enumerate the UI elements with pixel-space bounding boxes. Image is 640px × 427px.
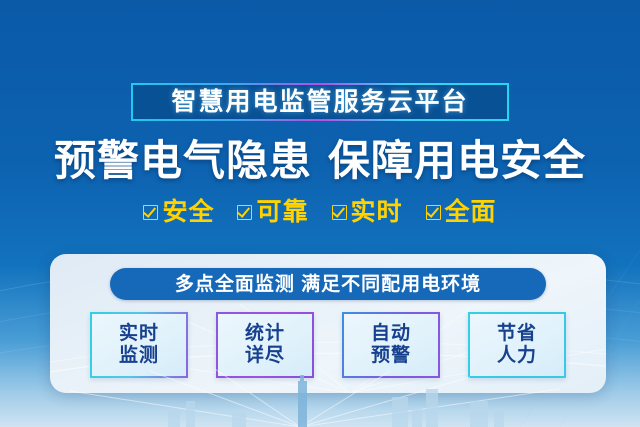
feature-card-line-2: 监测: [119, 345, 159, 367]
feature-card-realtime-monitoring[interactable]: 实时 监测: [90, 312, 188, 378]
feature-card-line-1: 节省: [497, 323, 537, 345]
feature-card-line-1: 统计: [245, 323, 285, 345]
platform-title-text: 智慧用电监管服务云平台: [171, 90, 468, 115]
panel-headline-text: 多点全面监测 满足不同配用电环境: [175, 275, 481, 294]
feature-card-line-1: 实时: [119, 323, 159, 345]
feature-card-line-2: 详尽: [245, 345, 285, 367]
feature-tag: 实时: [332, 200, 403, 225]
feature-tag-label: 实时: [351, 200, 403, 225]
feature-card-detailed-statistics[interactable]: 统计 详尽: [216, 312, 314, 378]
feature-tag-label: 安全: [162, 200, 214, 225]
checkbox-checked-icon: [332, 205, 347, 220]
feature-tag: 安全: [143, 200, 214, 225]
feature-card-save-manpower[interactable]: 节省 人力: [468, 312, 566, 378]
platform-title-box: 智慧用电监管服务云平台: [131, 83, 509, 121]
feature-tag: 全面: [426, 200, 497, 225]
feature-card-automatic-alert[interactable]: 自动 预警: [342, 312, 440, 378]
feature-tag-list: 安全 可靠 实时 全面: [0, 200, 640, 225]
feature-card-line-2: 人力: [497, 345, 537, 367]
panel-headline-pill: 多点全面监测 满足不同配用电环境: [110, 268, 546, 300]
feature-tag-label: 可靠: [256, 200, 308, 225]
feature-tag: 可靠: [237, 200, 308, 225]
poster-root: 智慧用电监管服务云平台 预警电气隐患保障用电安全 安全 可靠 实时 全面: [0, 0, 640, 427]
checkbox-checked-icon: [143, 205, 158, 220]
checkbox-checked-icon: [237, 205, 252, 220]
feature-tag-label: 全面: [445, 200, 497, 225]
feature-card-list: 实时 监测 统计 详尽 自动 预警 节省 人力: [90, 312, 566, 378]
checkbox-checked-icon: [426, 205, 441, 220]
headline-part-2: 保障用电安全: [328, 137, 586, 184]
page-title: 预警电气隐患保障用电安全: [0, 140, 640, 182]
headline-part-1: 预警电气隐患: [54, 137, 312, 184]
feature-panel: 多点全面监测 满足不同配用电环境 实时 监测 统计 详尽 自动 预警 节省 人力: [50, 254, 606, 393]
feature-card-line-1: 自动: [371, 323, 411, 345]
feature-card-line-2: 预警: [371, 345, 411, 367]
